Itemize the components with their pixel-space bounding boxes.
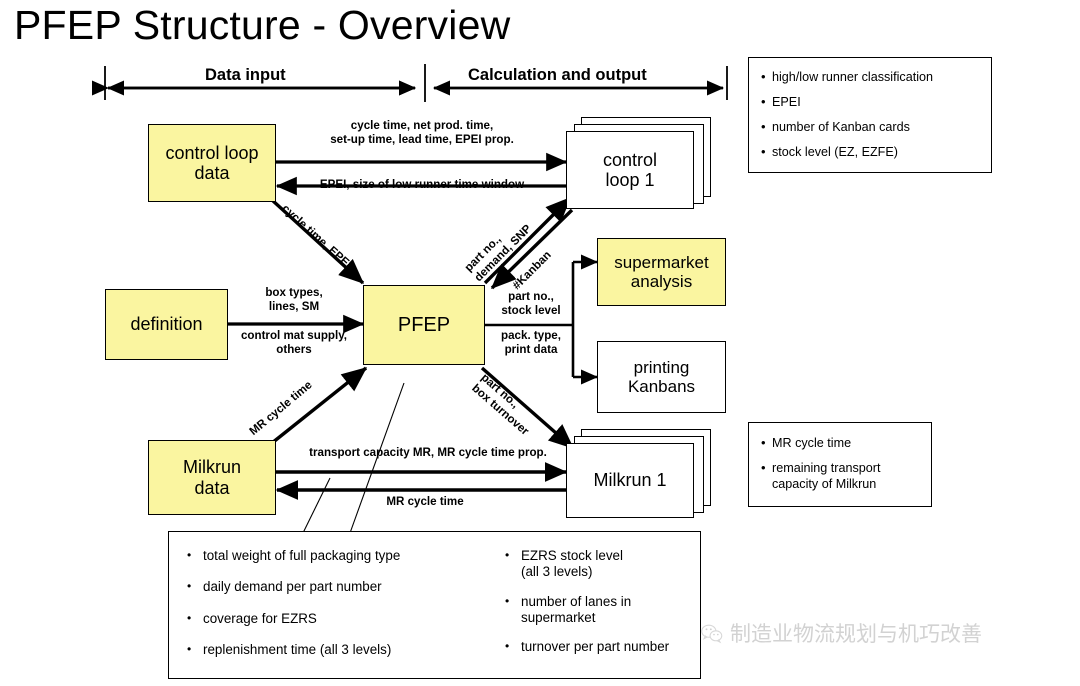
legend-item: turnover per part number bbox=[501, 639, 691, 655]
legend-item: EPEI bbox=[761, 95, 981, 111]
node-label: control loop data bbox=[165, 143, 258, 183]
node-supermarket-analysis[interactable]: supermarket analysis bbox=[597, 238, 726, 306]
legend-list: EZRS stock level (all 3 levels) number o… bbox=[501, 548, 691, 656]
node-printing-kanbans[interactable]: printing Kanbans bbox=[597, 341, 726, 413]
edge-label-pfep-to-supermarket: part no., stock level bbox=[487, 290, 575, 318]
legend-list: high/low runner classification EPEI numb… bbox=[761, 70, 981, 160]
node-label: printing Kanbans bbox=[628, 358, 695, 396]
edge-label-mr1-to-mrdata: MR cycle time bbox=[330, 495, 520, 509]
legend-item: stock level (EZ, EZFE) bbox=[761, 145, 981, 161]
node-control-loop-data[interactable]: control loop data bbox=[148, 124, 276, 202]
node-label: definition bbox=[130, 314, 202, 334]
node-pfep[interactable]: PFEP bbox=[363, 285, 485, 365]
node-label: Milkrun data bbox=[183, 457, 241, 497]
node-milkrun-1[interactable]: Milkrun 1 bbox=[566, 443, 694, 518]
legend-item: number of lanes in supermarket bbox=[501, 594, 691, 627]
legend-item: replenishment time (all 3 levels) bbox=[183, 642, 483, 658]
legend-item: EZRS stock level (all 3 levels) bbox=[501, 548, 691, 581]
legend-item: high/low runner classification bbox=[761, 70, 981, 86]
phase-label-data-input: Data input bbox=[205, 66, 286, 85]
edge-label-definition-to-pfep-2: control mat supply, others bbox=[225, 329, 363, 357]
legend-milkrun-outputs: MR cycle time remaining transport capaci… bbox=[748, 422, 932, 507]
diagram-canvas: PFEP Structure - Overview Data input Cal… bbox=[0, 0, 1080, 686]
node-control-loop-1[interactable]: control loop 1 bbox=[566, 131, 694, 209]
page-title: PFEP Structure - Overview bbox=[14, 2, 510, 49]
legend-control-loop-outputs: high/low runner classification EPEI numb… bbox=[748, 57, 992, 173]
node-label: supermarket analysis bbox=[614, 253, 708, 291]
legend-list: MR cycle time remaining transport capaci… bbox=[761, 436, 921, 493]
edge-label-definition-to-pfep: box types, lines, SM bbox=[239, 286, 349, 314]
legend-item: total weight of full packaging type bbox=[183, 548, 483, 564]
edge-label-mrdata-to-mr1: transport capacity MR, MR cycle time pro… bbox=[284, 446, 572, 460]
legend-item: remaining transport capacity of Milkrun bbox=[761, 461, 921, 493]
node-label: control loop 1 bbox=[603, 150, 657, 190]
legend-list: total weight of full packaging type dail… bbox=[183, 548, 483, 658]
legend-column-right: EZRS stock level (all 3 levels) number o… bbox=[501, 548, 691, 673]
node-label: Milkrun 1 bbox=[593, 470, 666, 490]
watermark: 制造业物流规划与机巧改善 bbox=[700, 618, 982, 648]
edge-label-cld-to-cl1: cycle time, net prod. time, set-up time,… bbox=[286, 119, 558, 147]
phase-label-calculation-output: Calculation and output bbox=[468, 66, 647, 85]
legend-item: number of Kanban cards bbox=[761, 120, 981, 136]
legend-column-left: total weight of full packaging type dail… bbox=[183, 548, 483, 673]
edge-label-pfep-to-printing: pack. type, print data bbox=[485, 329, 577, 357]
node-milkrun-data[interactable]: Milkrun data bbox=[148, 440, 276, 515]
legend-item: daily demand per part number bbox=[183, 579, 483, 595]
legend-pfep-contents: total weight of full packaging type dail… bbox=[168, 531, 701, 679]
node-label: PFEP bbox=[398, 314, 450, 336]
edge-label-cl1-to-cld: EPEI, size of low runner time window bbox=[286, 178, 558, 192]
legend-item: MR cycle time bbox=[761, 436, 921, 452]
legend-item: coverage for EZRS bbox=[183, 611, 483, 627]
legend-columns: total weight of full packaging type dail… bbox=[183, 548, 690, 673]
wechat-logo-icon bbox=[700, 622, 723, 645]
watermark-text: 制造业物流规划与机巧改善 bbox=[730, 618, 982, 648]
node-definition[interactable]: definition bbox=[105, 289, 228, 360]
